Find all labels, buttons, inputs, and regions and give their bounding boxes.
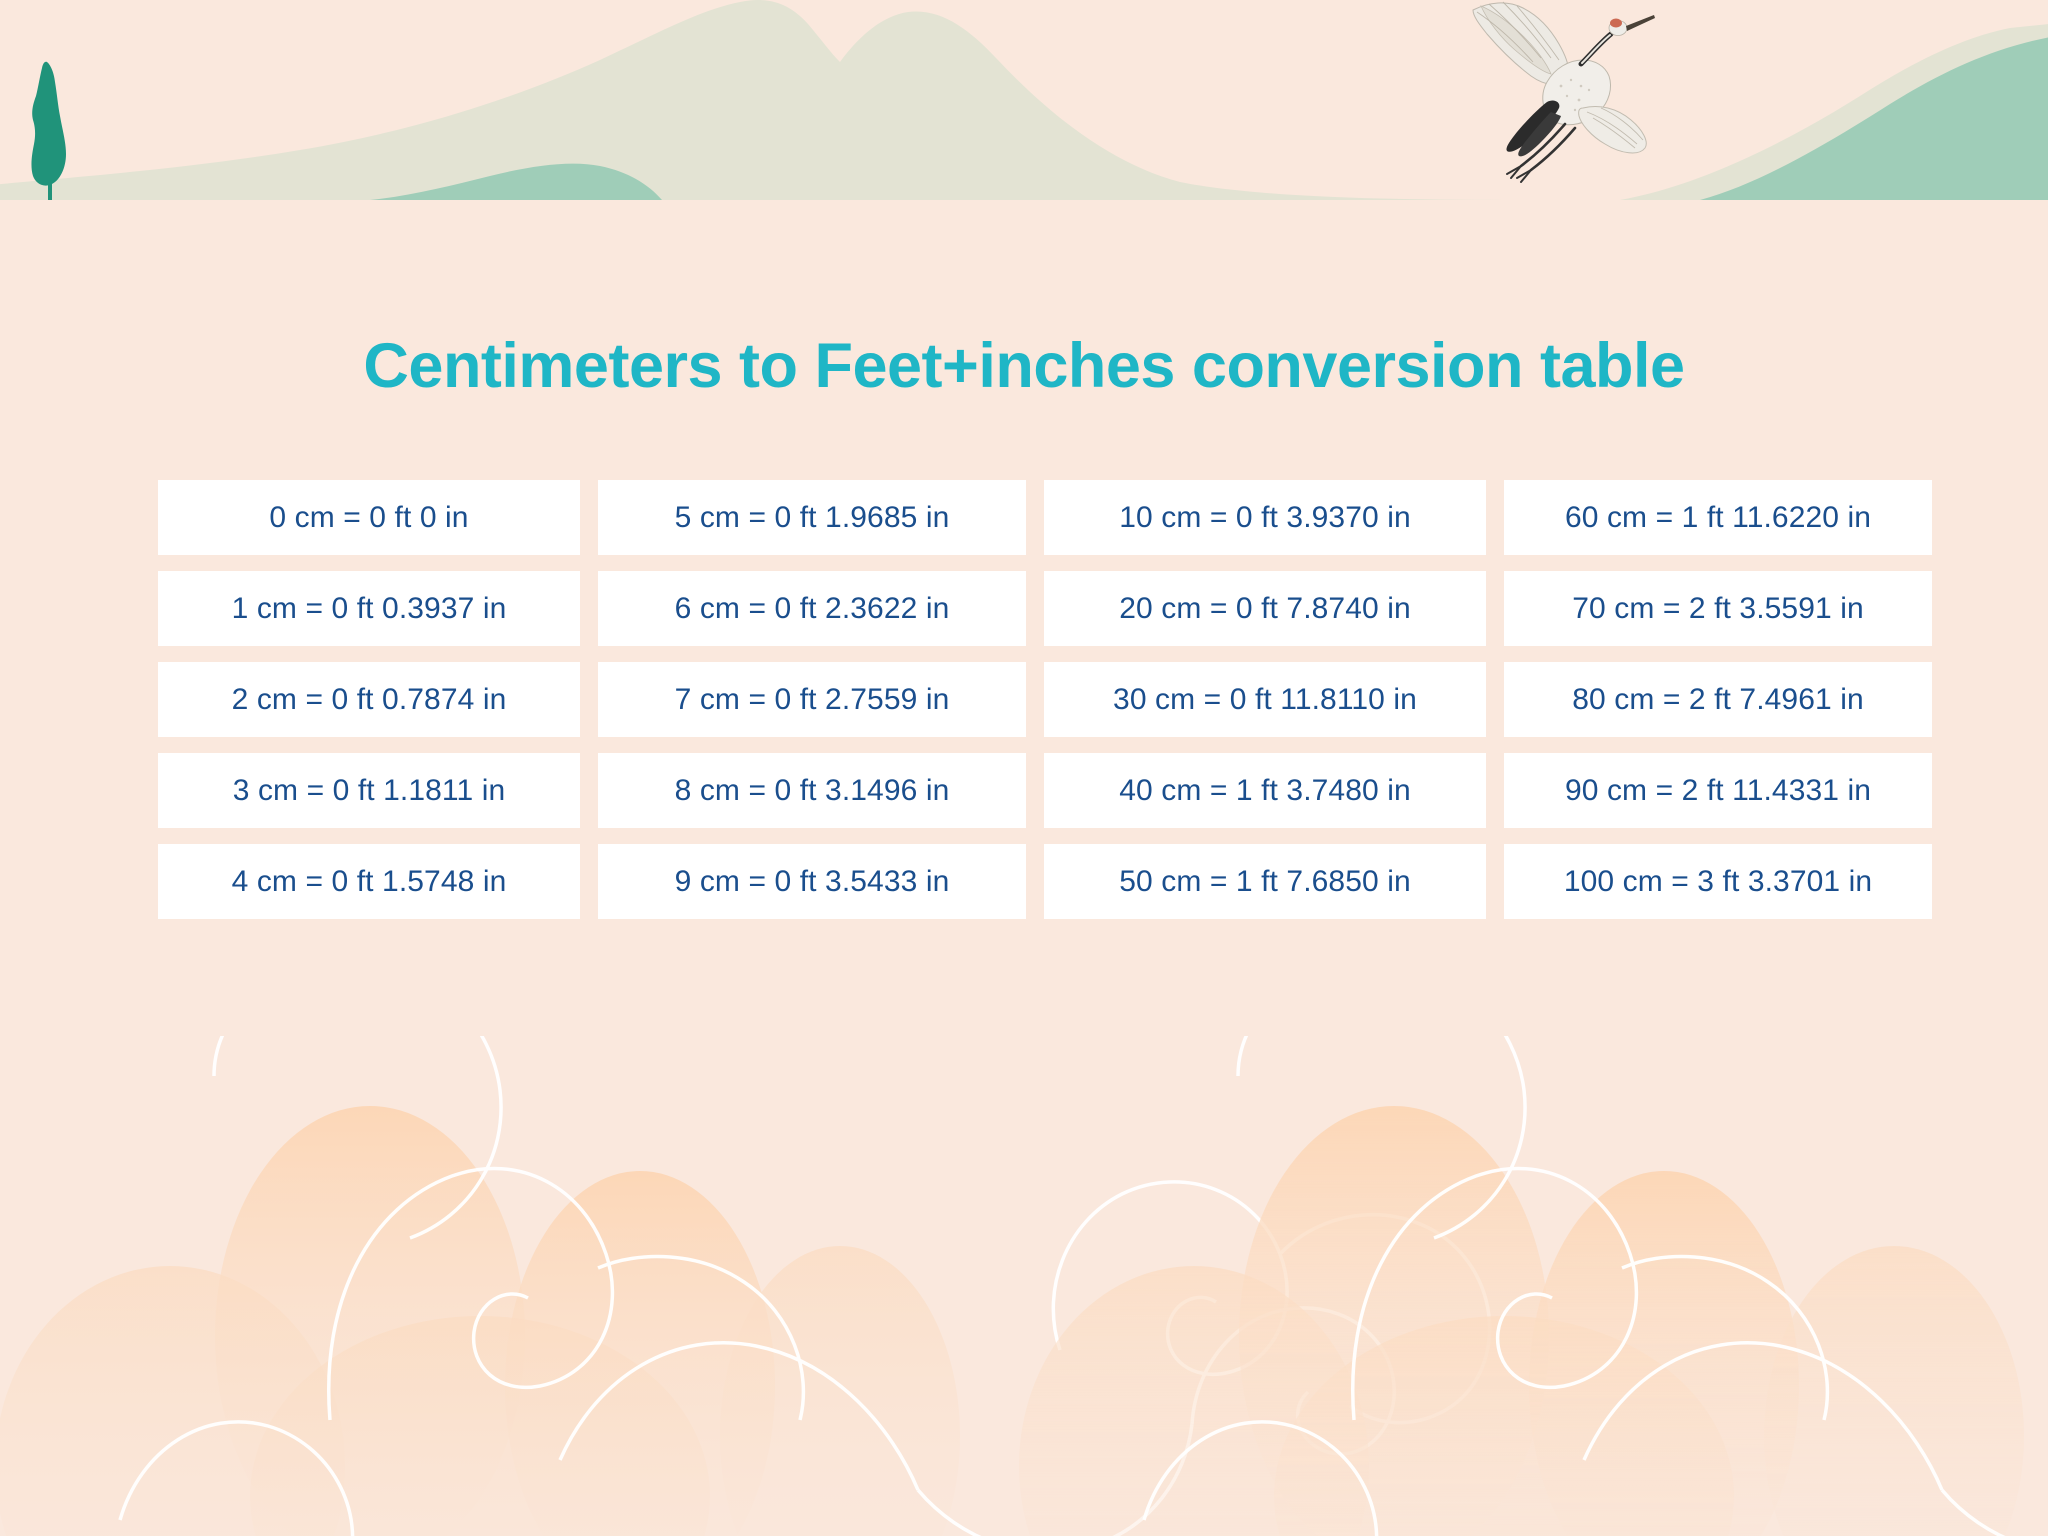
table-cell[interactable]: 9 cm = 0 ft 3.5433 in bbox=[598, 844, 1026, 919]
table-cell[interactable]: 60 cm = 1 ft 11.6220 in bbox=[1504, 480, 1932, 555]
cloud-svg bbox=[0, 1036, 2048, 1536]
table-row: 0 cm = 0 ft 0 in 5 cm = 0 ft 1.9685 in 1… bbox=[158, 480, 1918, 555]
mountain-scene-svg bbox=[0, 0, 2048, 268]
table-row: 3 cm = 0 ft 1.1811 in 8 cm = 0 ft 3.1496… bbox=[158, 753, 1918, 828]
table-cell[interactable]: 2 cm = 0 ft 0.7874 in bbox=[158, 662, 580, 737]
table-cell[interactable]: 50 cm = 1 ft 7.6850 in bbox=[1044, 844, 1486, 919]
table-row: 1 cm = 0 ft 0.3937 in 6 cm = 0 ft 2.3622… bbox=[158, 571, 1918, 646]
table-cell[interactable]: 6 cm = 0 ft 2.3622 in bbox=[598, 571, 1026, 646]
table-cell[interactable]: 3 cm = 0 ft 1.1811 in bbox=[158, 753, 580, 828]
table-row: 2 cm = 0 ft 0.7874 in 7 cm = 0 ft 2.7559… bbox=[158, 662, 1918, 737]
table-cell[interactable]: 30 cm = 0 ft 11.8110 in bbox=[1044, 662, 1486, 737]
table-cell[interactable]: 20 cm = 0 ft 7.8740 in bbox=[1044, 571, 1486, 646]
table-cell[interactable]: 7 cm = 0 ft 2.7559 in bbox=[598, 662, 1026, 737]
table-cell[interactable]: 0 cm = 0 ft 0 in bbox=[158, 480, 580, 555]
header-decoration-band bbox=[0, 0, 2048, 268]
table-cell[interactable]: 1 cm = 0 ft 0.3937 in bbox=[158, 571, 580, 646]
table-cell[interactable]: 70 cm = 2 ft 3.5591 in bbox=[1504, 571, 1932, 646]
table-cell[interactable]: 4 cm = 0 ft 1.5748 in bbox=[158, 844, 580, 919]
band-base-strip bbox=[0, 200, 2048, 268]
table-cell[interactable]: 100 cm = 3 ft 3.3701 in bbox=[1504, 844, 1932, 919]
table-row: 4 cm = 0 ft 1.5748 in 9 cm = 0 ft 3.5433… bbox=[158, 844, 1918, 919]
table-cell[interactable]: 10 cm = 0 ft 3.9370 in bbox=[1044, 480, 1486, 555]
auspicious-cloud-decoration bbox=[0, 1036, 2048, 1536]
cloud-cluster-left bbox=[0, 1036, 1490, 1536]
page-title: Centimeters to Feet+inches conversion ta… bbox=[0, 330, 2048, 402]
table-cell[interactable]: 8 cm = 0 ft 3.1496 in bbox=[598, 753, 1026, 828]
conversion-table: 0 cm = 0 ft 0 in 5 cm = 0 ft 1.9685 in 1… bbox=[158, 480, 1918, 919]
table-cell[interactable]: 80 cm = 2 ft 7.4961 in bbox=[1504, 662, 1932, 737]
table-cell[interactable]: 5 cm = 0 ft 1.9685 in bbox=[598, 480, 1026, 555]
cloud-cluster-right bbox=[1019, 1036, 2048, 1536]
table-cell[interactable]: 90 cm = 2 ft 11.4331 in bbox=[1504, 753, 1932, 828]
table-cell[interactable]: 40 cm = 1 ft 3.7480 in bbox=[1044, 753, 1486, 828]
